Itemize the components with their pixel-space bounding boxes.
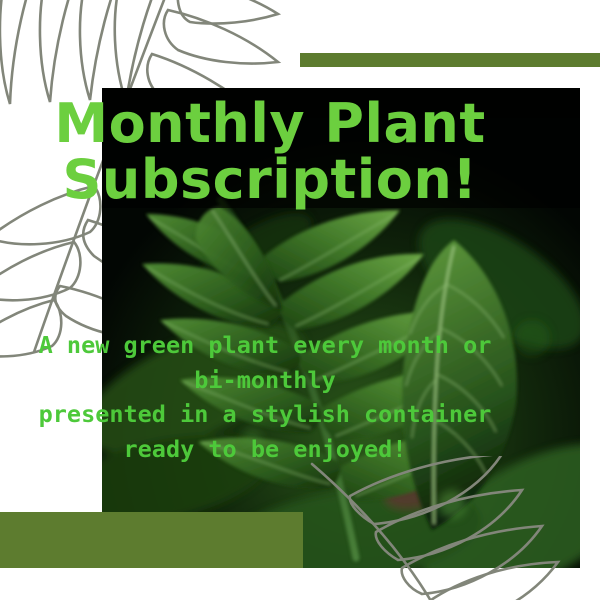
page-title: Monthly Plant Subscription! <box>0 96 540 207</box>
body-line-4: ready to be enjoyed! <box>0 432 530 467</box>
body-copy: A new green plant every month or bi-mont… <box>0 328 530 466</box>
body-line-1: A new green plant every month or <box>0 328 530 363</box>
top-green-bar <box>300 53 600 67</box>
poster-canvas: Monthly Plant Subscription! A new green … <box>0 0 600 600</box>
body-line-2: bi-monthly <box>0 363 530 398</box>
headline-line-2: Subscription! <box>0 152 540 208</box>
body-line-3: presented in a stylish container <box>0 397 530 432</box>
headline-line-1: Monthly Plant <box>0 96 540 152</box>
bottom-green-bar <box>0 512 303 568</box>
